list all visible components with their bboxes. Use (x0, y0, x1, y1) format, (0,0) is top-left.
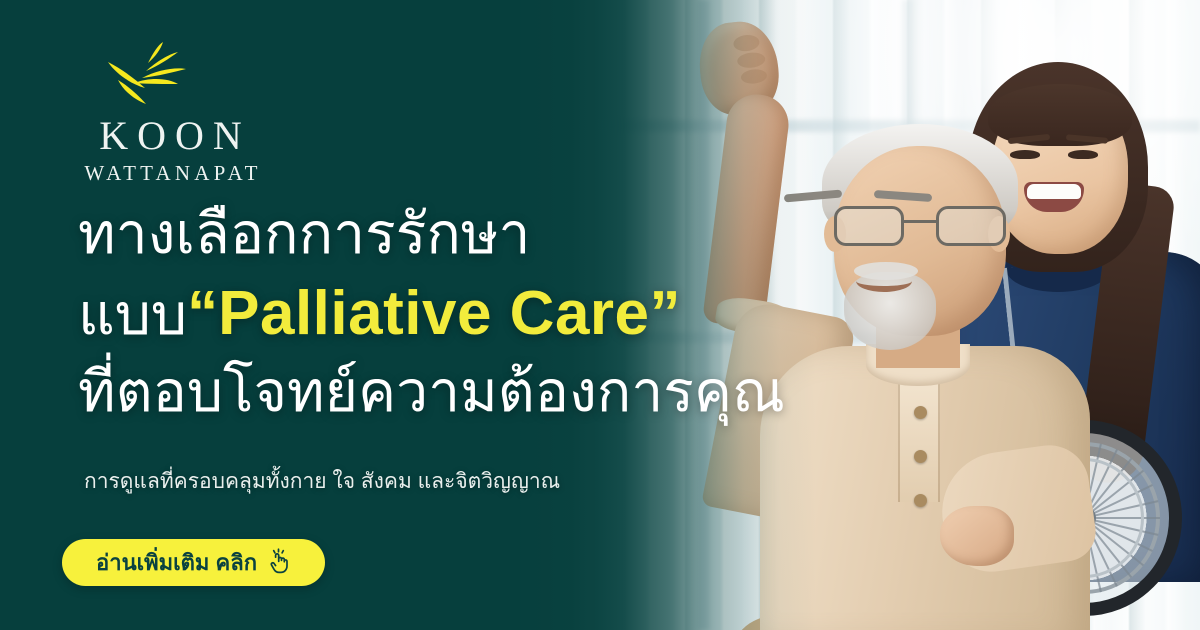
leaf-spray-icon (100, 40, 196, 106)
headline-line-2: แบบ“Palliative Care” (78, 274, 778, 355)
read-more-button[interactable]: อ่านเพิ่มเติม คลิก (62, 539, 325, 586)
brand-logo[interactable]: KOON WATTANAPAT (56, 40, 286, 184)
read-more-label: อ่านเพิ่มเติม คลิก (96, 545, 257, 580)
headline-line-3: ที่ตอบโจทย์ความต้องการคุณ (78, 354, 778, 432)
headline-line-1: ทางเลือกการรักษา (78, 196, 778, 274)
brand-name: KOON (56, 116, 286, 156)
banner-content: KOON WATTANAPAT ทางเลือกการรักษา แบบ“Pal… (0, 0, 1200, 630)
promo-banner: KOON WATTANAPAT ทางเลือกการรักษา แบบ“Pal… (0, 0, 1200, 630)
quote-close: ” (650, 279, 681, 348)
quote-open: “ (187, 279, 218, 348)
headline: ทางเลือกการรักษา แบบ“Palliative Care” ที… (78, 196, 778, 432)
brand-subname: WATTANAPAT (56, 163, 286, 184)
pointing-hand-click-icon (266, 548, 291, 575)
subtitle: การดูแลที่ครอบคลุมทั้งกาย ใจ สังคม และจิ… (84, 465, 560, 498)
headline-line-2-prefix: แบบ (78, 283, 187, 347)
headline-emphasis: Palliative Care (218, 279, 649, 348)
